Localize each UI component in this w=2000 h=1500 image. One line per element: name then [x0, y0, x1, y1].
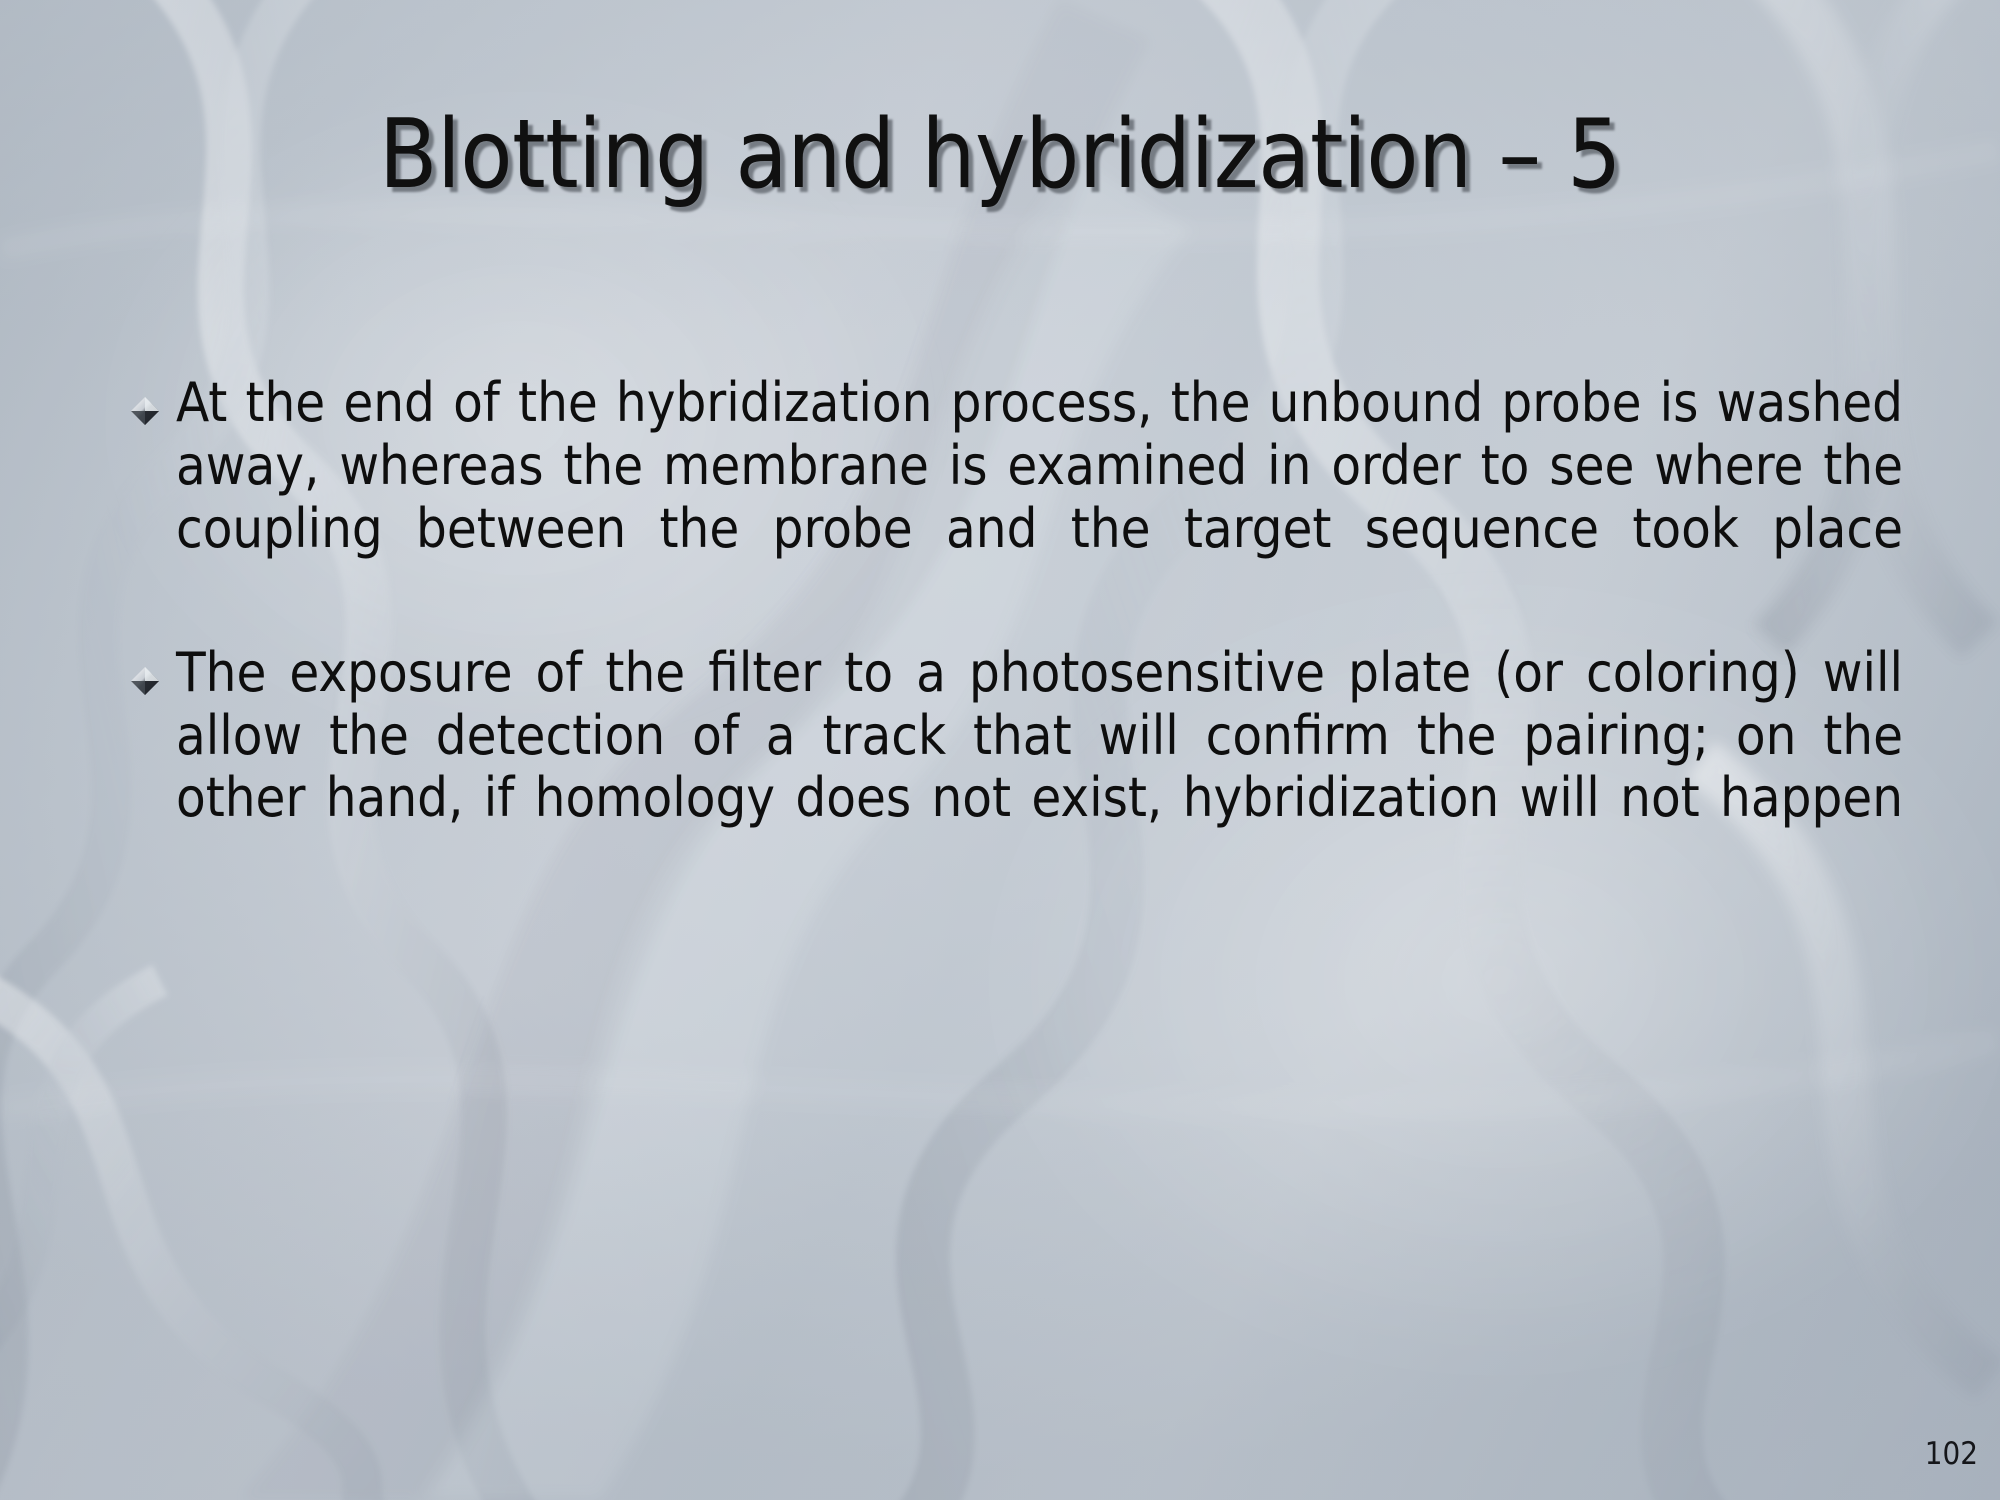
bullet-text: The exposure of the filter to a photosen…	[176, 642, 1903, 894]
bullet-list: At the end of the hybridization process,…	[128, 372, 1903, 911]
diamond-bullet-icon	[128, 394, 162, 428]
slide-content: Blotting and hybridization – 5	[0, 0, 2000, 1500]
page-number: 102	[1925, 1436, 1978, 1472]
list-item: The exposure of the filter to a photosen…	[128, 642, 1903, 894]
slide: Blotting and hybridization – 5	[0, 0, 2000, 1500]
list-item: At the end of the hybridization process,…	[128, 372, 1903, 624]
slide-title: Blotting and hybridization – 5	[0, 108, 2000, 203]
bullet-text: At the end of the hybridization process,…	[176, 372, 1903, 624]
diamond-bullet-icon	[128, 664, 162, 698]
